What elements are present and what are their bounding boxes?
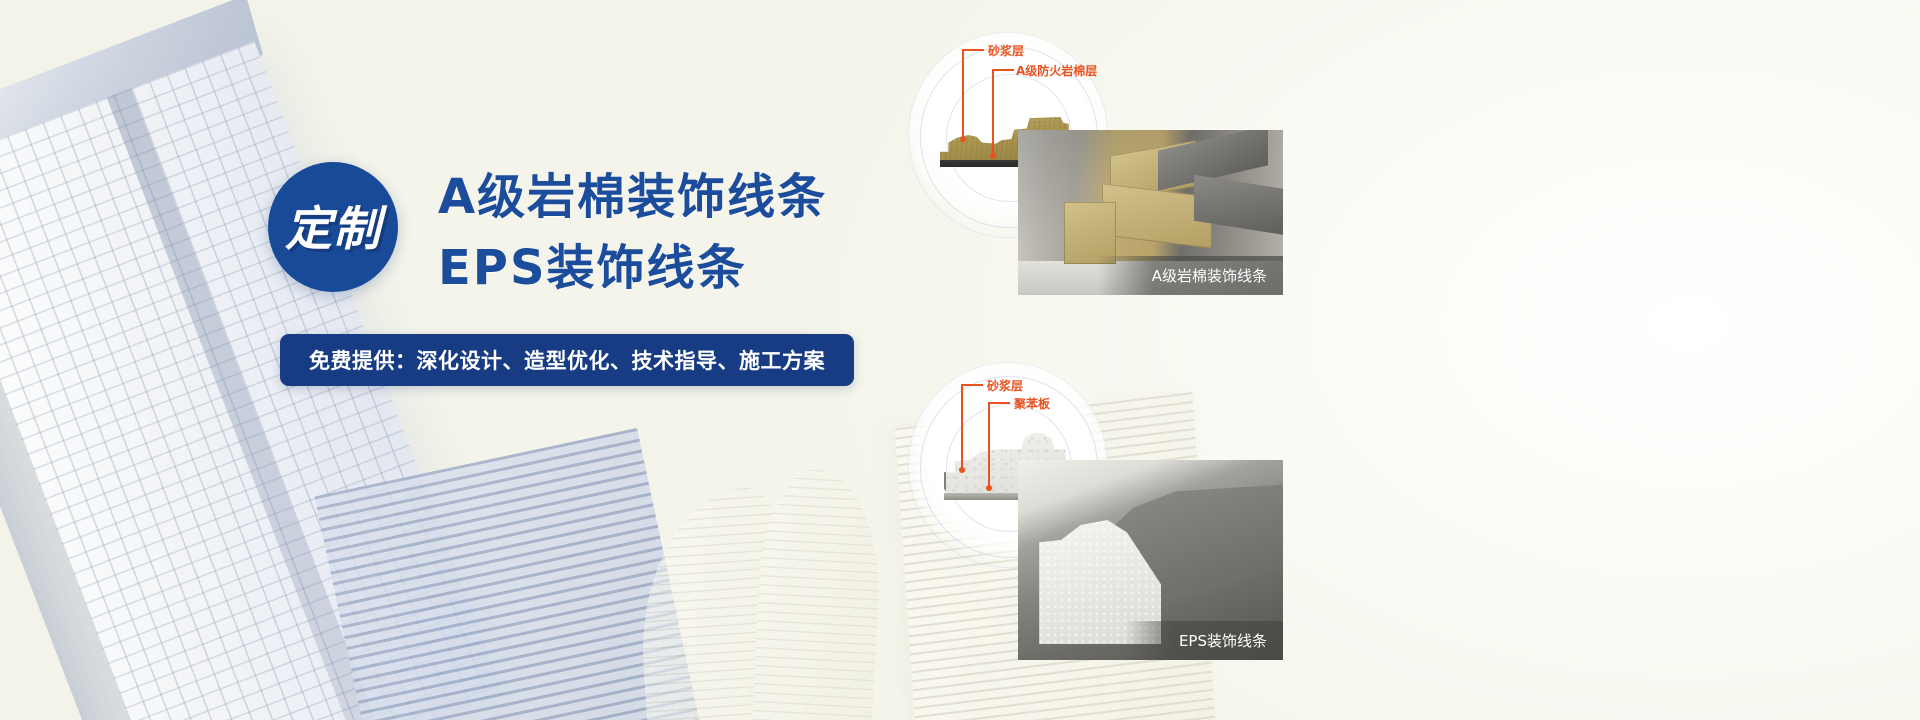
service-pill: 免费提供：深化设计、造型优化、技术指导、施工方案 — [280, 334, 854, 386]
eps-photo-caption: EPS装饰线条 — [1125, 621, 1283, 660]
custom-badge-label: 定制 — [285, 206, 381, 253]
rock-wool-product-photo: A级岩棉装饰线条 — [1018, 130, 1283, 295]
curved-tower-right — [751, 467, 885, 720]
tower-edge-shade — [0, 187, 200, 720]
tower-roof-cap — [0, 0, 263, 188]
callout-arm — [988, 402, 1010, 404]
headline-line-2: EPS装饰线条 — [438, 239, 827, 298]
custom-badge: 定制 — [268, 162, 398, 292]
product-block-eps: 砂浆层 聚苯板 EPS装饰线条 — [900, 320, 1320, 700]
callout-label: 砂浆层 — [987, 377, 1023, 394]
promo-banner: 定制 A级岩棉装饰线条 EPS装饰线条 免费提供：深化设计、造型优化、技术指导、… — [0, 0, 1920, 720]
headline-group: A级岩棉装饰线条 EPS装饰线条 — [438, 168, 827, 297]
secondary-tower — [314, 428, 724, 720]
callout-label: A级防火岩棉层 — [1016, 62, 1097, 79]
callout-stem — [961, 384, 963, 470]
callout-stem — [988, 402, 990, 488]
headline-line-1: A级岩棉装饰线条 — [438, 168, 827, 227]
callout-stem — [962, 49, 964, 137]
callout-arm — [962, 49, 984, 51]
callout-arm — [961, 384, 983, 386]
service-pill-label: 免费提供：深化设计、造型优化、技术指导、施工方案 — [309, 345, 825, 375]
curved-tower-left — [631, 485, 808, 720]
wool-block — [1064, 202, 1116, 264]
rock-wool-photo-caption: A级岩棉装饰线条 — [1098, 256, 1283, 295]
callout-stem — [992, 69, 994, 154]
callout-label: 砂浆层 — [988, 42, 1024, 59]
callout-label: 聚苯板 — [1014, 395, 1050, 412]
product-block-rock-wool: 砂浆层 A级防火岩棉层 A级岩棉装饰线条 — [900, 28, 1320, 328]
eps-product-photo: EPS装饰线条 — [1018, 460, 1283, 660]
callout-arm — [992, 69, 1014, 71]
